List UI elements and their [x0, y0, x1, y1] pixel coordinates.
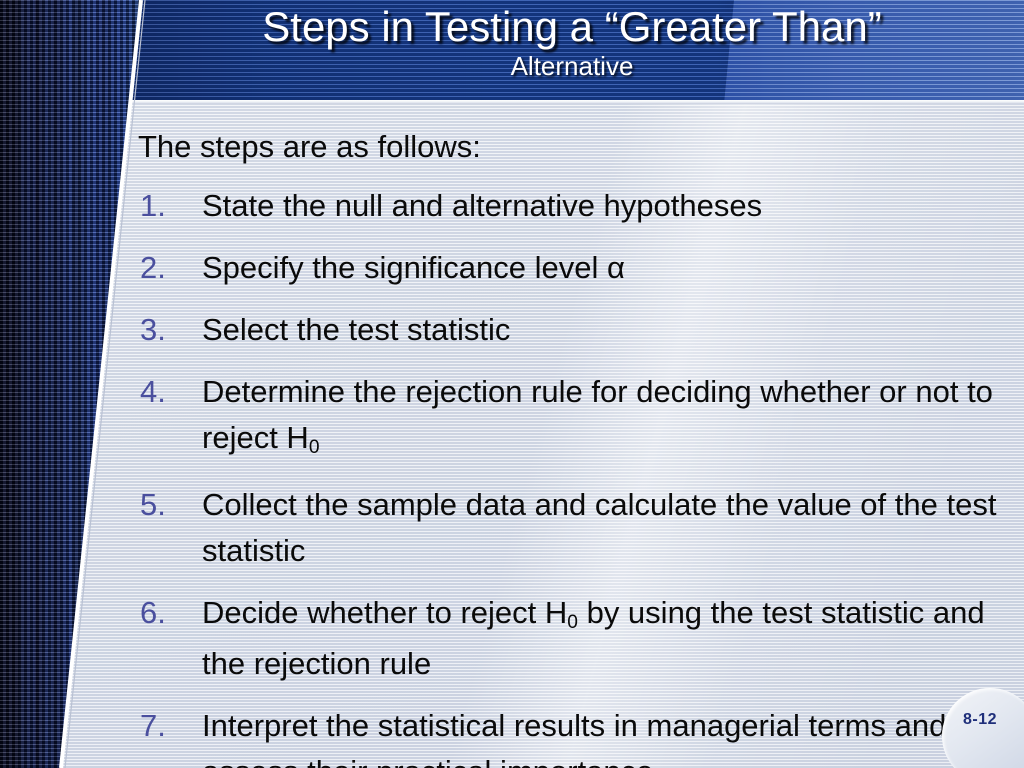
step-text: State the null and alternative hypothese…	[202, 183, 1024, 229]
step-list-item: 6.Decide whether to reject H0 by using t…	[138, 590, 1024, 687]
step-text-main: Determine the rejection rule for decidin…	[202, 374, 993, 455]
steps-list: 1.State the null and alternative hypothe…	[138, 183, 1024, 768]
slide-title-block: Steps in Testing a “Greater Than” Altern…	[0, 0, 1024, 104]
step-text-main: Specify the significance level α	[202, 250, 625, 285]
step-number: 5.	[140, 482, 192, 528]
step-list-item: 7.Interpret the statistical results in m…	[138, 703, 1024, 768]
intro-paragraph: The steps are as follows:	[138, 128, 1024, 166]
step-number: 1.	[140, 183, 192, 229]
step-text-main: Decide whether to reject H	[202, 595, 567, 630]
step-number: 7.	[140, 703, 192, 749]
slide-content: The steps are as follows: 1.State the nu…	[138, 128, 1024, 768]
step-number: 4.	[140, 369, 192, 415]
slide-canvas: Steps in Testing a “Greater Than” Altern…	[0, 0, 1024, 768]
page-number-label: 8-12	[963, 711, 997, 729]
slide-title-line-2: Alternative	[120, 51, 1024, 81]
step-text-main: Collect the sample data and calculate th…	[202, 487, 996, 568]
step-text: Determine the rejection rule for decidin…	[202, 369, 1024, 466]
slide-title-line-1: Steps in Testing a “Greater Than”	[120, 3, 1024, 50]
step-text: Interpret the statistical results in man…	[202, 703, 1024, 768]
step-subscript: 0	[567, 612, 578, 633]
step-list-item: 2.Specify the significance level α	[138, 245, 1024, 291]
step-number: 2.	[140, 245, 192, 291]
step-list-item: 5.Collect the sample data and calculate …	[138, 482, 1024, 574]
step-list-item: 3.Select the test statistic	[138, 307, 1024, 353]
step-list-item: 4.Determine the rejection rule for decid…	[138, 369, 1024, 466]
step-text-main: Interpret the statistical results in man…	[202, 708, 946, 768]
step-text: Collect the sample data and calculate th…	[202, 482, 1024, 574]
step-number: 6.	[140, 590, 192, 636]
step-list-item: 1.State the null and alternative hypothe…	[138, 183, 1024, 229]
step-text-main: Select the test statistic	[202, 312, 510, 347]
step-number: 3.	[140, 307, 192, 353]
step-text-main: State the null and alternative hypothese…	[202, 188, 762, 223]
left-decorative-stripe-column	[0, 0, 140, 768]
step-text: Decide whether to reject H0 by using the…	[202, 590, 1024, 687]
step-text: Specify the significance level α	[202, 245, 1024, 291]
step-text: Select the test statistic	[202, 307, 1024, 353]
step-subscript: 0	[309, 437, 320, 458]
